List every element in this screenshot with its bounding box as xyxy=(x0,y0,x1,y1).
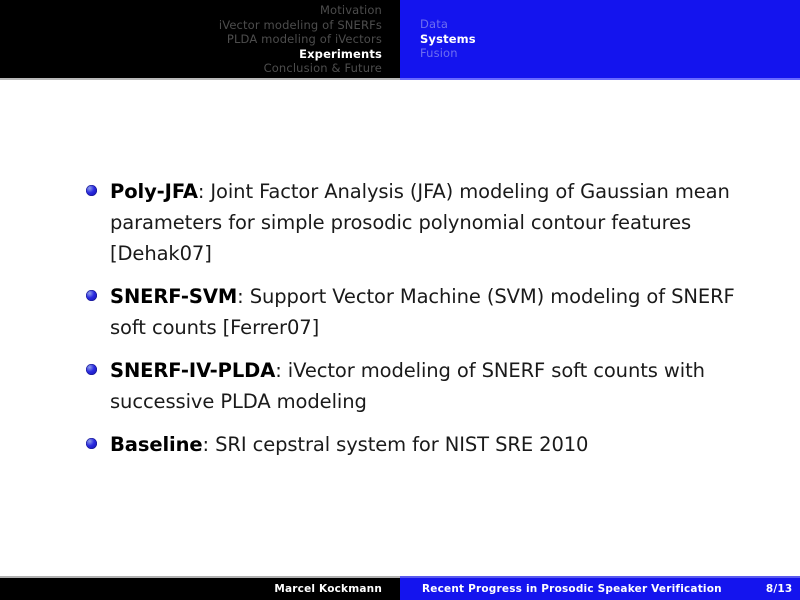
footer-page-number: 8/13 xyxy=(766,583,793,595)
list-item: Poly-JFA: Joint Factor Analysis (JFA) mo… xyxy=(86,176,738,269)
header-navigation-bar: Motivation iVector modeling of SNERFs PL… xyxy=(0,0,800,78)
slide: Motivation iVector modeling of SNERFs PL… xyxy=(0,0,800,600)
blue-sphere-bullet-icon xyxy=(86,290,97,301)
blue-sphere-bullet-icon xyxy=(86,438,97,449)
list-item: SNERF-IV-PLDA: iVector modeling of SNERF… xyxy=(86,355,738,417)
nav-subitem-data[interactable]: Data xyxy=(420,17,448,32)
list-item-text: SNERF-IV-PLDA: iVector modeling of SNERF… xyxy=(110,355,738,417)
list-item-text: Baseline: SRI cepstral system for NIST S… xyxy=(110,429,738,460)
list-item: SNERF-SVM: Support Vector Machine (SVM) … xyxy=(86,281,738,343)
nav-item-plda-modeling-of-ivectors[interactable]: PLDA modeling of iVectors xyxy=(227,32,382,47)
list-item-text: Poly-JFA: Joint Factor Analysis (JFA) mo… xyxy=(110,176,738,269)
list-item-lead: Poly-JFA xyxy=(110,180,198,203)
list-item-lead: Baseline xyxy=(110,433,203,456)
bullet-list: Poly-JFA: Joint Factor Analysis (JFA) mo… xyxy=(86,176,738,460)
slide-content: Poly-JFA: Joint Factor Analysis (JFA) mo… xyxy=(0,78,800,578)
nav-item-ivector-modeling-of-snerfs[interactable]: iVector modeling of SNERFs xyxy=(219,18,382,33)
header-section-outline: Motivation iVector modeling of SNERFs PL… xyxy=(0,0,400,78)
nav-subitem-fusion[interactable]: Fusion xyxy=(420,46,458,61)
nav-item-motivation[interactable]: Motivation xyxy=(320,3,382,18)
footer-title: Recent Progress in Prosodic Speaker Veri… xyxy=(422,583,722,595)
list-item-text: SNERF-SVM: Support Vector Machine (SVM) … xyxy=(110,281,738,343)
footer-bar: Marcel Kockmann Recent Progress in Proso… xyxy=(0,578,800,600)
nav-item-conclusion-and-future[interactable]: Conclusion & Future xyxy=(264,61,382,76)
list-item-body: : SRI cepstral system for NIST SRE 2010 xyxy=(203,433,589,456)
header-section-subsections: Data Systems Fusion xyxy=(400,0,800,78)
blue-sphere-bullet-icon xyxy=(86,364,97,375)
nav-subitem-systems[interactable]: Systems xyxy=(420,32,476,47)
list-item: Baseline: SRI cepstral system for NIST S… xyxy=(86,429,738,460)
footer-title-section: Recent Progress in Prosodic Speaker Veri… xyxy=(400,578,800,600)
footer-author-section: Marcel Kockmann xyxy=(0,578,400,600)
nav-item-experiments[interactable]: Experiments xyxy=(299,47,382,62)
list-item-lead: SNERF-SVM xyxy=(110,285,237,308)
list-item-body: : Joint Factor Analysis (JFA) modeling o… xyxy=(110,180,730,265)
footer-author: Marcel Kockmann xyxy=(274,583,382,595)
blue-sphere-bullet-icon xyxy=(86,185,97,196)
list-item-lead: SNERF-IV-PLDA xyxy=(110,359,275,382)
